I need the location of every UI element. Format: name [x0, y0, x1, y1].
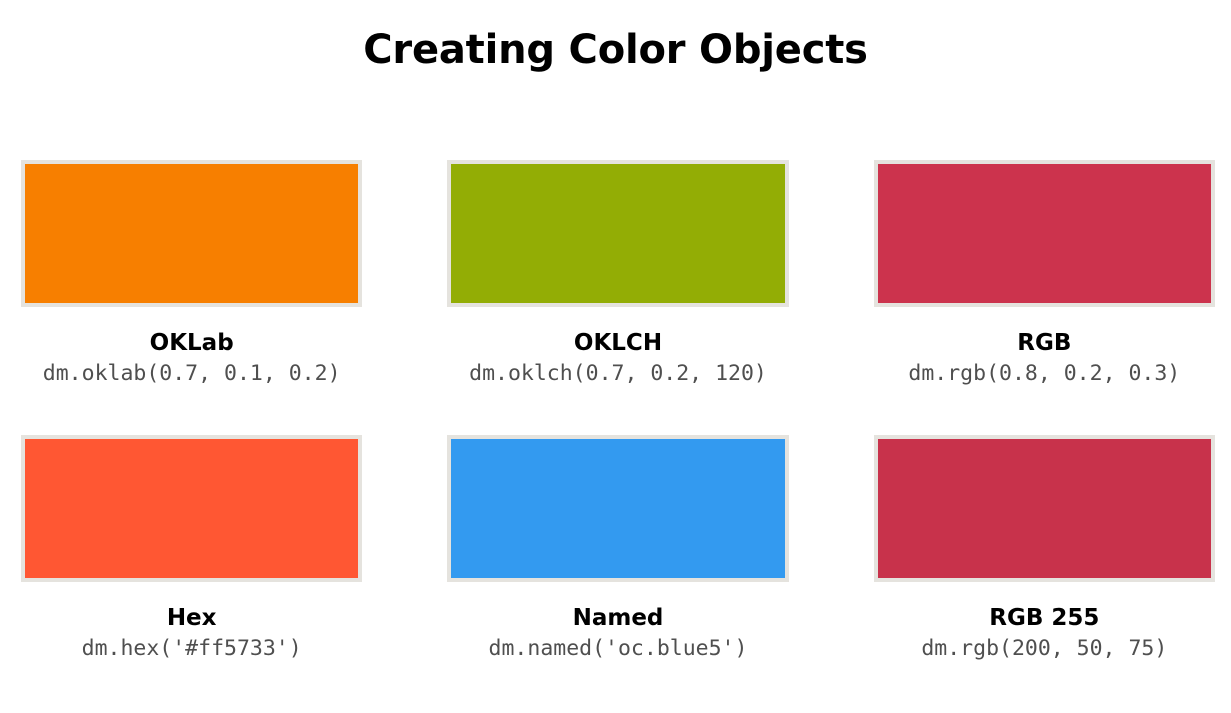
swatch-label-hex: Hex — [21, 604, 362, 632]
swatch-grid: OKLab dm.oklab(0.7, 0.1, 0.2) OKLCH dm.o… — [21, 160, 1215, 685]
color-swatch-hex — [25, 439, 358, 578]
swatch-frame — [21, 435, 362, 582]
swatch-code-hex: dm.hex('#ff5733') — [21, 635, 362, 663]
swatch-label-rgb: RGB — [874, 329, 1215, 357]
swatch-frame — [447, 160, 788, 307]
swatch-label-oklab: OKLab — [21, 329, 362, 357]
swatch-frame — [21, 160, 362, 307]
swatch-label-named: Named — [447, 604, 788, 632]
swatch-frame — [447, 435, 788, 582]
page-title: Creating Color Objects — [0, 22, 1231, 78]
swatch-code-rgb-255: dm.rgb(200, 50, 75) — [874, 635, 1215, 663]
swatch-code-oklab: dm.oklab(0.7, 0.1, 0.2) — [21, 360, 362, 388]
color-swatch-rgb — [878, 164, 1211, 303]
color-swatch-oklab — [25, 164, 358, 303]
color-swatch-named — [451, 439, 784, 578]
swatch-label-rgb-255: RGB 255 — [874, 604, 1215, 632]
swatch-cell-oklch: OKLCH dm.oklch(0.7, 0.2, 120) — [447, 160, 788, 411]
swatch-frame — [874, 160, 1215, 307]
swatch-cell-named: Named dm.named('oc.blue5') — [447, 435, 788, 686]
color-objects-figure: Creating Color Objects OKLab dm.oklab(0.… — [0, 0, 1231, 713]
swatch-label-oklch: OKLCH — [447, 329, 788, 357]
swatch-cell-hex: Hex dm.hex('#ff5733') — [21, 435, 362, 686]
swatch-code-rgb: dm.rgb(0.8, 0.2, 0.3) — [874, 360, 1215, 388]
swatch-code-named: dm.named('oc.blue5') — [447, 635, 788, 663]
swatch-cell-rgb: RGB dm.rgb(0.8, 0.2, 0.3) — [874, 160, 1215, 411]
color-swatch-oklch — [451, 164, 784, 303]
swatch-cell-oklab: OKLab dm.oklab(0.7, 0.1, 0.2) — [21, 160, 362, 411]
swatch-frame — [874, 435, 1215, 582]
swatch-cell-rgb-255: RGB 255 dm.rgb(200, 50, 75) — [874, 435, 1215, 686]
color-swatch-rgb-255 — [878, 439, 1211, 578]
swatch-code-oklch: dm.oklch(0.7, 0.2, 120) — [447, 360, 788, 388]
